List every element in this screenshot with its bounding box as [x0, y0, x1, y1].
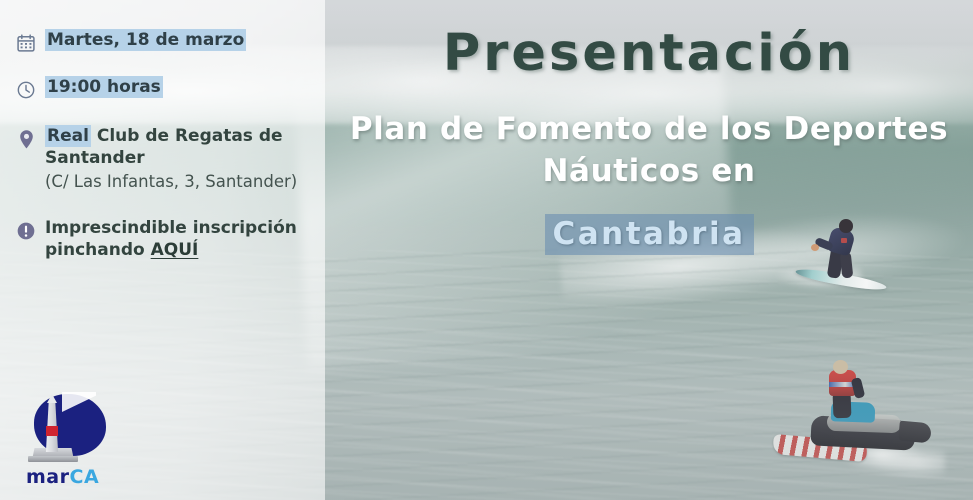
lighthouse-red-band [46, 426, 58, 436]
headline-region-wrap: Cantabria [325, 214, 973, 255]
map-pin-icon [14, 127, 38, 151]
clock-icon [14, 78, 38, 102]
registration-link[interactable]: AQUÍ [151, 240, 199, 260]
event-time-row: 19:00 horas [14, 77, 309, 102]
calendar-icon [14, 31, 38, 55]
headline-block: Presentación Plan de Fomento de los Depo… [325, 0, 973, 500]
event-date-value: Martes, 18 de marzo [45, 29, 246, 51]
headline-region: Cantabria [545, 214, 754, 255]
logo-wordmark-second: CA [70, 466, 100, 488]
registration-notice-text: Imprescindible inscripción pinchando AQU… [45, 218, 309, 262]
event-venue-row: Real Club de Regatas de Santander (C/ La… [14, 126, 309, 192]
event-poster: Martes, 18 de marzo 19:00 horas [0, 0, 973, 500]
event-venue-highlight: Real [45, 125, 91, 147]
lighthouse-steps [28, 456, 78, 462]
headline-subtitle: Plan de Fomento de los Deportes Náuticos… [325, 108, 973, 192]
event-date-text: Martes, 18 de marzo [45, 30, 246, 52]
registration-notice-row: Imprescindible inscripción pinchando AQU… [14, 218, 309, 262]
event-time-value: 19:00 horas [45, 76, 163, 98]
event-date-row: Martes, 18 de marzo [14, 30, 309, 55]
logo-wordmark: marCA [26, 466, 124, 488]
exclamation-circle-icon [14, 219, 38, 243]
marca-logo[interactable]: marCA [14, 392, 124, 492]
event-details-list: Martes, 18 de marzo 19:00 horas [0, 0, 325, 277]
event-venue-address: (C/ Las Infantas, 3, Santander) [45, 171, 309, 192]
page-title: Presentación [325, 24, 973, 83]
event-time-text: 19:00 horas [45, 77, 163, 99]
logo-wordmark-first: mar [26, 466, 70, 488]
event-venue-text: Real Club de Regatas de Santander (C/ La… [45, 126, 309, 192]
lighthouse-logo-icon [22, 392, 108, 464]
